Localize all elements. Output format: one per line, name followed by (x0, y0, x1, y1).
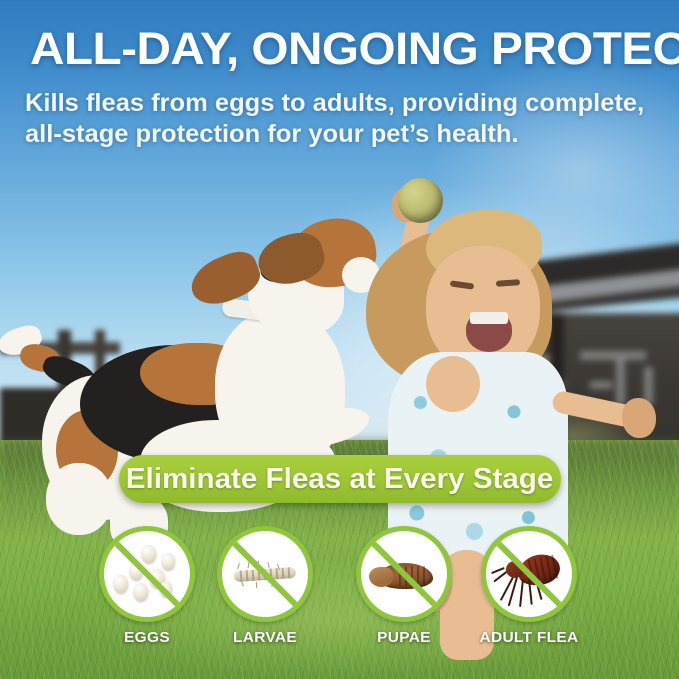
page-subtitle: Kills fleas from eggs to adults, providi… (25, 88, 596, 150)
flea-larva-icon (217, 526, 313, 622)
girl-right-hand (622, 398, 656, 438)
page-title: ALL-DAY, ONGOING PROTECTION (30, 24, 679, 74)
stage-label-pupae: PUPAE (347, 629, 460, 646)
stage-item-larvae: LARVAE (210, 526, 320, 646)
flea-leg (519, 579, 524, 607)
subtitle-line-1: Kills fleas from eggs to adults, providi… (25, 88, 596, 119)
flea-pupa-icon (356, 526, 452, 622)
adult-flea-icon (481, 526, 577, 622)
stage-label-larvae: LARVAE (208, 629, 321, 646)
stage-label-adult-flea: ADULT FLEA (472, 629, 585, 646)
girl-shoulder (426, 356, 480, 412)
eliminate-fleas-banner: Eliminate Fleas at Every Stage (119, 455, 561, 503)
stage-item-eggs: EGGS (92, 526, 202, 646)
tennis-ball (398, 178, 443, 223)
flea-eggs-icon (99, 526, 195, 622)
flea-antenna (493, 571, 507, 582)
stage-item-pupae: PUPAE (349, 526, 459, 646)
stage-label-eggs: EGGS (90, 629, 203, 646)
subtitle-line-2: all-stage protection for your pet’s heal… (25, 119, 596, 150)
flea-lifecycle-stage-row: EGGS LARVA (0, 526, 679, 646)
pupa-cocoon-fold (369, 567, 393, 587)
banner-label: Eliminate Fleas at Every Stage (126, 463, 553, 496)
promo-banner-image: ALL-DAY, ONGOING PROTECTION Kills fleas … (0, 0, 679, 679)
girl-teeth (470, 312, 508, 324)
stage-item-adult-flea: ADULT FLEA (474, 526, 584, 646)
dog-hind-leg (46, 463, 112, 535)
